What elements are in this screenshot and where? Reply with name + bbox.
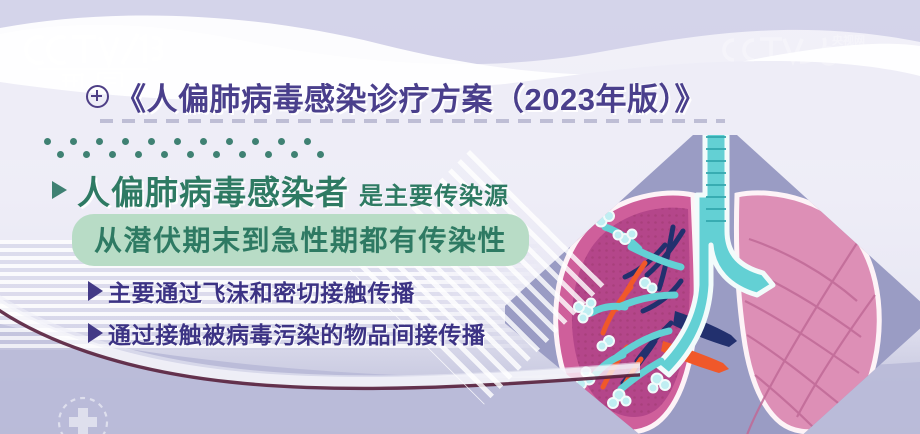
infographic-slide: 央视网 《人偏肺病毒感染诊疗方案（2023年版）》 (0, 0, 920, 434)
transmission-point-2: 通过接触被病毒污染的物品间接传播 (88, 316, 486, 350)
headline-rest: 是主要传染源 (359, 176, 509, 211)
headline-row: 人偏肺病毒感染者 是主要传染源 (52, 166, 509, 214)
transmission-point-2-label: 通过接触被病毒污染的物品间接传播 (108, 316, 486, 350)
triangle-right-icon (88, 323, 103, 343)
triangle-right-icon (88, 281, 103, 301)
slide-title-row: 《人偏肺病毒感染诊疗方案（2023年版）》 (86, 74, 706, 119)
headline-emphasis: 人偏肺病毒感染者 (77, 166, 349, 214)
svg-text:央视网: 央视网 (832, 33, 865, 47)
page-title: 《人偏肺病毒感染诊疗方案（2023年版）》 (115, 74, 706, 119)
transmission-point-1: 主要通过飞沫和密切接触传播 (88, 274, 415, 308)
medical-plus-icon (86, 85, 109, 108)
cctv-com-watermark: 央视网 (716, 28, 906, 74)
dashed-circle-plus-icon (56, 395, 110, 434)
highlight-pill: 从潜伏期末到急性期都有传染性 (72, 214, 529, 266)
transmission-point-1-label: 主要通过飞沫和密切接触传播 (108, 274, 415, 308)
triangle-right-icon (52, 181, 67, 199)
dot-pattern-decoration (40, 136, 340, 162)
highlight-pill-label: 从潜伏期末到急性期都有传染性 (94, 225, 507, 256)
title-divider (100, 119, 725, 123)
